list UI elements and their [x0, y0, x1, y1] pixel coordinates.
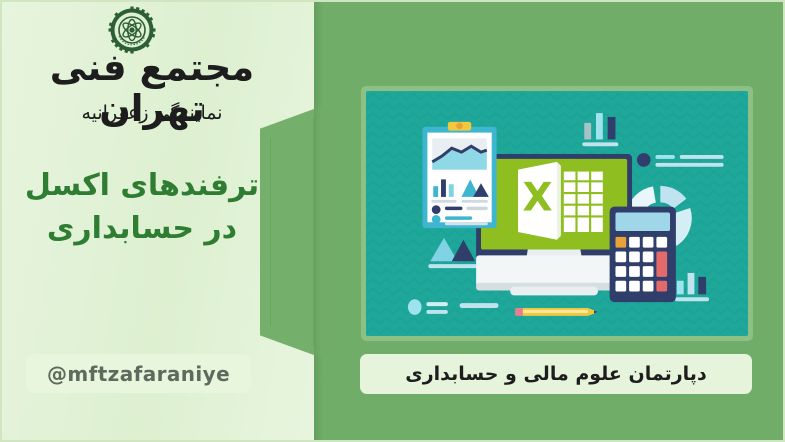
svg-text:X: X	[522, 176, 552, 221]
clipboard-report	[423, 122, 497, 228]
social-handle-text: @mftzafaraniye	[47, 362, 230, 386]
illustration-frame: X	[361, 86, 753, 341]
calculator	[610, 207, 676, 303]
poster-canvas: مجتمع فنی تهران نمایندگی زعفرانیه ترفنده…	[0, 0, 785, 442]
department-banner: دپارتمان علوم مالی و حسابداری	[360, 354, 752, 394]
pencil	[515, 308, 598, 316]
social-handle-badge[interactable]: @mftzafaraniye	[26, 354, 251, 393]
panel-fold-flap-inner	[270, 118, 314, 346]
excel-accounting-illustration: X	[366, 91, 748, 336]
excel-logo: X	[518, 162, 603, 240]
page-title: ترفندهای اکسل در حسابداری	[6, 165, 278, 250]
department-label: دپارتمان علوم مالی و حسابداری	[405, 363, 706, 385]
page-title-line-2: در حسابداری	[6, 208, 278, 251]
institute-branch: نمایندگی زعفرانیه	[2, 102, 302, 124]
page-title-line-1: ترفندهای اکسل	[25, 168, 259, 203]
panel-fold-shadow	[314, 2, 323, 442]
